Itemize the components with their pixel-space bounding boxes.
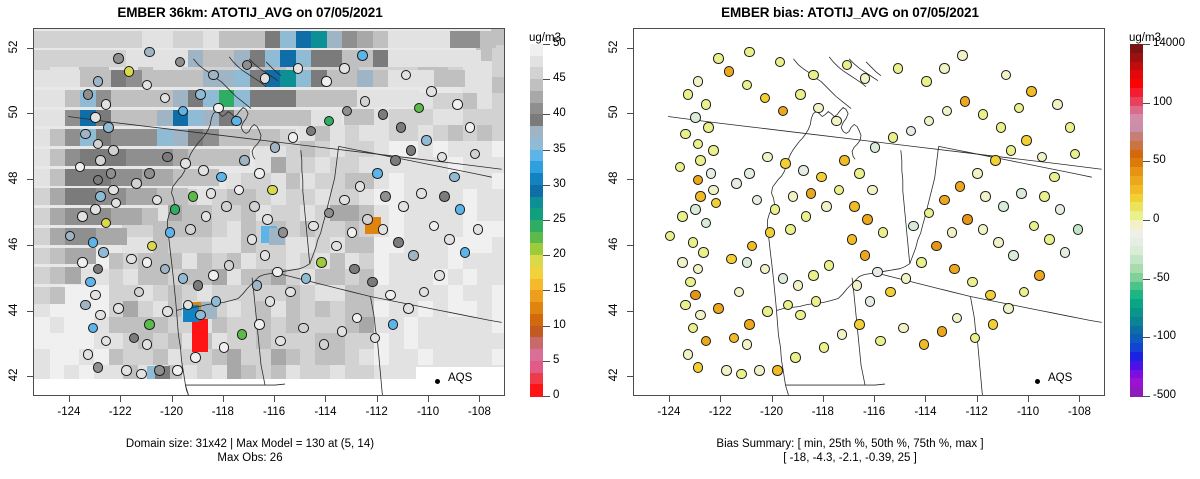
observation-station-marker [101,218,112,229]
observation-station-marker [870,142,881,153]
y-axis-tick [627,179,633,180]
colorbar-tick [543,44,550,45]
observation-station-marker [675,162,686,173]
observation-station-marker [262,214,273,225]
observation-station-marker [811,296,822,307]
observation-station-marker [921,76,932,87]
observation-station-marker [1037,152,1048,163]
observation-station-marker [698,247,709,258]
observation-station-marker [93,362,104,373]
colorbar-tick-label: -500 [1153,389,1176,401]
x-axis-tick [172,396,173,402]
observation-station-marker [113,303,124,314]
observation-station-marker [144,319,155,330]
observation-station-marker [1073,224,1084,235]
observation-station-marker [398,201,409,212]
observation-station-marker [237,329,248,340]
observation-station-marker [249,201,260,212]
observation-station-marker [742,339,753,350]
observation-station-marker [93,175,104,186]
observation-station-marker [339,63,350,74]
observation-station-marker [744,168,755,179]
observation-station-marker [680,300,691,311]
observation-station-marker [854,168,865,179]
observation-station-marker [101,336,112,347]
colorbar-segment [530,302,543,314]
x-axis-tick [69,396,70,402]
y-axis-tick-label: 44 [608,297,620,323]
x-axis-tick-label: -124 [649,406,689,418]
observation-station-marker [160,264,171,275]
y-axis-tick-label: 46 [8,231,20,257]
colorbar-tick [543,220,550,221]
observation-station-marker [416,188,427,199]
observation-station-marker [993,237,1004,248]
observation-station-marker [854,319,865,330]
y-axis-tick [27,376,33,377]
observation-station-marker [708,145,719,156]
observation-station-marker [701,99,712,110]
x-axis-tick [1079,396,1080,402]
model-aqs-legend: AQS [416,367,505,396]
observation-station-marker [93,139,104,150]
colorbar-segment [530,314,543,326]
observation-station-marker [688,237,699,248]
bias-footer-line-2: [ -18, -4.3, -2.1, -0.39, 25 ] [600,451,1100,465]
observation-station-marker [252,280,263,291]
observation-station-marker [142,80,153,91]
observation-station-marker [178,273,189,284]
colorbar-tick-label: 25 [553,213,566,225]
x-axis-tick-label: -124 [49,406,89,418]
x-axis-tick-label: -114 [305,406,345,418]
observation-station-marker [688,323,699,334]
observation-station-marker [113,53,124,64]
aqs-marker-icon [1035,379,1040,384]
observation-station-marker [144,168,155,179]
colorbar-segment [530,337,543,349]
observation-station-marker [1055,204,1066,215]
observation-station-marker [195,89,206,100]
colorbar-segment [530,185,543,197]
observation-station-marker [690,204,701,215]
observation-station-marker [98,247,109,258]
observation-station-marker [839,155,850,166]
observation-station-marker [747,241,758,252]
observation-station-marker [306,126,317,137]
x-axis-tick [274,396,275,402]
observation-station-marker [213,103,224,114]
observation-station-marker [362,214,373,225]
y-axis-tick-label: 52 [608,34,620,60]
observation-station-marker [131,178,142,189]
observation-station-marker [88,323,99,334]
observation-station-marker [390,155,401,166]
observation-station-marker [790,352,801,363]
observation-station-marker [867,185,878,196]
colorbar-segment [530,114,543,126]
colorbar-segment [1130,387,1143,396]
observation-station-marker [734,287,745,298]
observation-station-marker [744,319,755,330]
observation-station-marker [703,122,714,133]
observation-station-marker [83,349,94,360]
observation-station-marker [893,63,904,74]
observation-station-marker [1060,247,1071,258]
observation-station-marker [211,296,222,307]
observation-station-marker [760,93,771,104]
observation-station-marker [339,195,350,206]
observation-station-marker [124,66,135,77]
observation-station-marker [180,158,191,169]
x-axis-tick-label: -108 [1059,406,1099,418]
colorbar-tick [543,185,550,186]
observation-station-marker [888,132,899,143]
colorbar-segment [530,161,543,173]
x-axis-tick-label: -112 [357,406,397,418]
observation-station-marker [721,365,732,376]
colorbar-segment [530,138,543,150]
observation-station-marker [783,300,794,311]
model-map-plot-area[interactable]: AQS [33,28,505,396]
observation-station-marker [260,73,271,84]
observation-station-marker [357,50,368,61]
observation-station-marker [1049,172,1060,183]
x-axis-tick [479,396,480,402]
observation-station-marker [960,96,971,107]
colorbar-segment [530,255,543,267]
colorbar-tick-label: 10 [553,319,566,331]
observation-station-marker [842,60,853,71]
observation-station-marker [247,234,258,245]
observation-station-marker [878,227,889,238]
y-axis-tick [27,311,33,312]
colorbar-gradient [1130,44,1143,396]
x-axis-tick [1028,396,1029,402]
observation-station-marker [396,122,407,133]
observation-station-marker [967,277,978,288]
observation-station-marker [201,211,212,222]
observation-station-marker [216,172,227,183]
observation-station-marker [988,319,999,330]
observation-station-marker [349,264,360,275]
observation-station-marker [1016,188,1027,199]
observation-station-marker [693,139,704,150]
observation-station-marker [706,168,717,179]
bias-map-plot-area[interactable]: AQS [633,28,1105,396]
observation-station-marker [219,342,230,353]
observation-station-marker [695,310,706,321]
observation-station-marker [1039,191,1050,202]
observation-station-marker [319,339,330,350]
observation-station-marker [298,323,309,334]
observation-station-marker [693,362,704,373]
observation-station-marker [178,106,189,117]
colorbar-segment [530,384,543,396]
colorbar-tick-label: 20 [553,248,566,260]
y-axis-tick-label: 42 [8,362,20,388]
observation-station-marker [713,53,724,64]
observation-station-marker [795,89,806,100]
observation-station-marker [1026,86,1037,97]
y-axis-tick [627,48,633,49]
colorbar-tick-label: 50 [1153,154,1166,166]
observation-station-marker [429,221,440,232]
observation-station-marker [701,336,712,347]
observation-station-marker [1014,103,1025,114]
observation-station-marker [998,201,1009,212]
observation-station-marker [972,168,983,179]
observation-station-marker [762,152,773,163]
colorbar-tick [1143,44,1150,45]
observation-station-marker [444,234,455,245]
observation-station-marker [352,313,363,324]
observation-station-marker [406,145,417,156]
colorbar-tick [543,114,550,115]
observation-station-marker [924,116,935,127]
observation-station-marker [437,152,448,163]
observation-station-marker [108,145,119,156]
observation-station-marker [470,149,481,160]
observation-station-marker [849,201,860,212]
observation-station-marker [401,70,412,81]
observation-station-marker [726,254,737,265]
observation-station-marker [95,310,106,321]
y-axis-tick [27,113,33,114]
x-axis-tick [977,396,978,402]
observation-station-marker [372,168,383,179]
observation-station-marker [742,80,753,91]
colorbar-tick-label: 50 [553,37,566,49]
observation-station-marker [85,277,96,288]
observation-station-marker [460,247,471,258]
colorbar-tick [543,290,550,291]
observation-station-marker [806,188,817,199]
observation-station-marker [744,47,755,58]
x-axis-tick-label: -110 [1008,406,1048,418]
observation-station-marker [996,122,1007,133]
x-axis-tick-label: -122 [100,406,140,418]
colorbar-segment [530,232,543,244]
observation-station-marker [270,142,281,153]
observation-station-marker [77,257,88,268]
observation-station-marker [80,129,91,140]
colorbar-segment [530,56,543,68]
observation-station-marker [95,191,106,202]
colorbar-tick [543,396,550,397]
observation-station-marker [962,214,973,225]
observation-station-marker [106,168,117,179]
observation-station-marker [142,257,153,268]
model-observation-points [34,29,504,395]
model-aqs-legend-label: AQS [448,372,472,384]
colorbar-segment [530,243,543,255]
observation-station-marker [193,280,204,291]
y-axis-tick-label: 48 [608,165,620,191]
y-axis-tick [627,311,633,312]
observation-station-marker [426,86,437,97]
observation-station-marker [852,280,863,291]
colorbar-segment [530,220,543,232]
observation-station-marker [778,106,789,117]
colorbar-segment [530,197,543,209]
observation-station-marker [693,76,704,87]
observation-station-marker [195,310,206,321]
observation-station-marker [275,336,286,347]
colorbar-tick-label: 100 [1153,96,1172,108]
observation-station-marker [393,237,404,248]
observation-station-marker [111,198,122,209]
observation-station-marker [321,76,332,87]
colorbar-gradient [530,44,543,396]
colorbar-tick-label: 0 [553,389,559,401]
observation-station-marker [908,221,919,232]
figure-root: EMBER 36km: ATOTIJ_AVG on 07/05/2021 [0,0,1200,479]
observation-station-marker [190,352,201,363]
observation-station-marker [221,201,232,212]
x-axis-tick [325,396,326,402]
observation-station-marker [337,326,348,337]
observation-station-marker [308,221,319,232]
observation-station-marker [342,106,353,117]
colorbar-segment [530,91,543,103]
observation-station-marker [77,211,88,222]
colorbar-segment [530,373,543,385]
colorbar-tick-label: 15 [553,283,566,295]
observation-station-marker [729,333,740,344]
observation-station-marker [1070,149,1081,160]
panel-bias: EMBER bias: ATOTIJ_AVG on 07/05/2021 [600,0,1200,479]
observation-station-marker [1052,99,1063,110]
colorbar-tick-label: 30 [553,178,566,190]
observation-station-marker [324,116,335,127]
observation-station-marker [785,224,796,235]
observation-station-marker [142,339,153,350]
observation-station-marker [701,218,712,229]
colorbar-tick [543,361,550,362]
observation-station-marker [742,257,753,268]
observation-station-marker [916,257,927,268]
observation-station-marker [414,103,425,114]
observation-station-marker [978,224,989,235]
observation-station-marker [690,290,701,301]
observation-station-marker [760,264,771,275]
x-axis-tick [720,396,721,402]
observation-station-marker [978,109,989,120]
observation-station-marker [939,63,950,74]
y-axis-tick [27,245,33,246]
model-footer-line-1: Domain size: 31x42 | Max Model = 130 at … [0,437,500,451]
observation-station-marker [924,208,935,219]
observation-station-marker [798,165,809,176]
colorbar-segment [530,173,543,185]
x-axis-tick-label: -120 [752,406,792,418]
y-axis-tick [627,376,633,377]
observation-station-marker [980,191,991,202]
observation-station-marker [331,241,342,252]
colorbar-tick-label: 35 [553,143,566,155]
observation-station-marker [144,47,155,58]
observation-station-marker [198,165,209,176]
observation-station-marker [455,204,466,215]
y-axis-tick [627,113,633,114]
observation-station-marker [224,260,235,271]
colorbar-tick-label: 14000 [1153,37,1185,49]
observation-station-marker [990,155,1001,166]
aqs-marker-icon [435,379,440,384]
observation-station-marker [101,99,112,110]
y-axis-tick-label: 46 [608,231,620,257]
observation-station-marker [234,185,245,196]
observation-station-marker [293,63,304,74]
panel-model-title: EMBER 36km: ATOTIJ_AVG on 07/05/2021 [0,5,500,20]
observation-station-marker [695,191,706,202]
colorbar-tick-label: 0 [1153,213,1159,225]
observation-station-marker [970,333,981,344]
observation-station-marker [265,296,276,307]
observation-station-marker [419,287,430,298]
observation-station-marker [267,185,278,196]
x-axis-tick-label: -112 [957,406,997,418]
observation-station-marker [95,155,106,166]
observation-station-marker [90,112,101,123]
observation-station-marker [860,250,871,261]
x-axis-tick [772,396,773,402]
observation-station-marker [324,208,335,219]
observation-station-marker [778,273,789,284]
colorbar-segment [530,103,543,115]
observation-station-marker [421,135,432,146]
observation-station-marker [816,172,827,183]
observation-station-marker [260,250,271,261]
observation-station-marker [693,264,704,275]
observation-station-marker [847,234,858,245]
observation-station-marker [834,185,845,196]
observation-station-marker [947,227,958,238]
observation-station-marker [862,214,873,225]
observation-station-marker [865,296,876,307]
observation-station-marker [242,60,253,71]
observation-station-marker [1001,70,1012,81]
y-axis-tick-label: 52 [8,34,20,60]
observation-station-marker [901,273,912,284]
observation-station-marker [452,99,463,110]
observation-station-marker [955,181,966,192]
observation-station-marker [316,257,327,268]
observation-station-marker [160,93,171,104]
observation-station-marker [677,211,688,222]
x-axis-tick [669,396,670,402]
observation-station-marker [952,313,963,324]
observation-station-marker [1034,270,1045,281]
observation-station-marker [285,287,296,298]
observation-station-marker [693,175,704,186]
observation-station-marker [724,66,735,77]
observation-station-marker [831,116,842,127]
observation-station-marker [860,73,871,84]
colorbar-segment [530,361,543,373]
observation-station-marker [690,112,701,123]
colorbar-tick [543,255,550,256]
observation-station-marker [388,319,399,330]
observation-station-marker [801,211,812,222]
observation-station-marker [795,310,806,321]
observation-station-marker [780,158,791,169]
observation-station-marker [347,227,358,238]
observation-station-marker [1021,135,1032,146]
observation-station-marker [1003,303,1014,314]
observation-station-marker [172,365,183,376]
